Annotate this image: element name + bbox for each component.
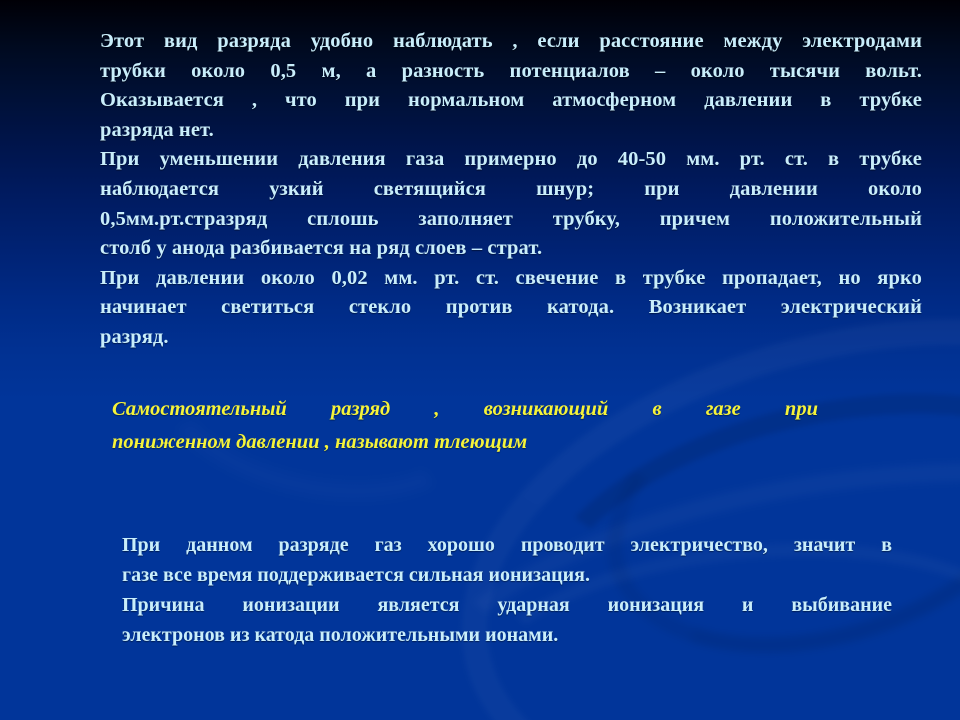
definition-callout: Самостоятельный разряд , возникающий в г… [112, 393, 818, 459]
text-line: Этот вид разряда удобно наблюдать , если… [100, 27, 922, 57]
text-line: трубки около 0,5 м, а разность потенциал… [100, 57, 922, 87]
paragraph-2: При уменьшении давления газа примерно до… [100, 145, 922, 263]
text-line: разряда нет. [100, 116, 922, 146]
paragraph-3: При давлении около 0,02 мм. рт. ст. свеч… [100, 264, 922, 353]
text-line: Причина ионизации является ударная иониз… [122, 590, 892, 620]
text-line: электронов из катода положительными иона… [122, 620, 892, 650]
text-line: разряд. [100, 323, 922, 353]
top-text-block: Этот вид разряда удобно наблюдать , если… [100, 27, 922, 353]
bottom-text-block: При данном разряде газ хорошо проводит э… [122, 530, 892, 650]
paragraph-4: При данном разряде газ хорошо проводит э… [122, 530, 892, 590]
text-line: При уменьшении давления газа примерно до… [100, 145, 922, 175]
paragraph-1: Этот вид разряда удобно наблюдать , если… [100, 27, 922, 145]
text-line: Оказывается , что при нормальном атмосфе… [100, 86, 922, 116]
text-line: газе все время поддерживается сильная ио… [122, 560, 892, 590]
text-line: 0,5мм.рт.стразряд сплошь заполняет трубк… [100, 205, 922, 235]
text-line: наблюдается узкий светящийся шнур; при д… [100, 175, 922, 205]
callout-line: Самостоятельный разряд , возникающий в г… [112, 393, 818, 426]
text-line: При давлении около 0,02 мм. рт. ст. свеч… [100, 264, 922, 294]
text-line: начинает светиться стекло против катода.… [100, 293, 922, 323]
callout-line: пониженном давлении , называют тлеющим [112, 426, 818, 459]
presentation-slide: Этот вид разряда удобно наблюдать , если… [0, 0, 960, 720]
text-line: столб у анода разбивается на ряд слоев –… [100, 234, 922, 264]
text-line: При данном разряде газ хорошо проводит э… [122, 530, 892, 560]
paragraph-5: Причина ионизации является ударная иониз… [122, 590, 892, 650]
